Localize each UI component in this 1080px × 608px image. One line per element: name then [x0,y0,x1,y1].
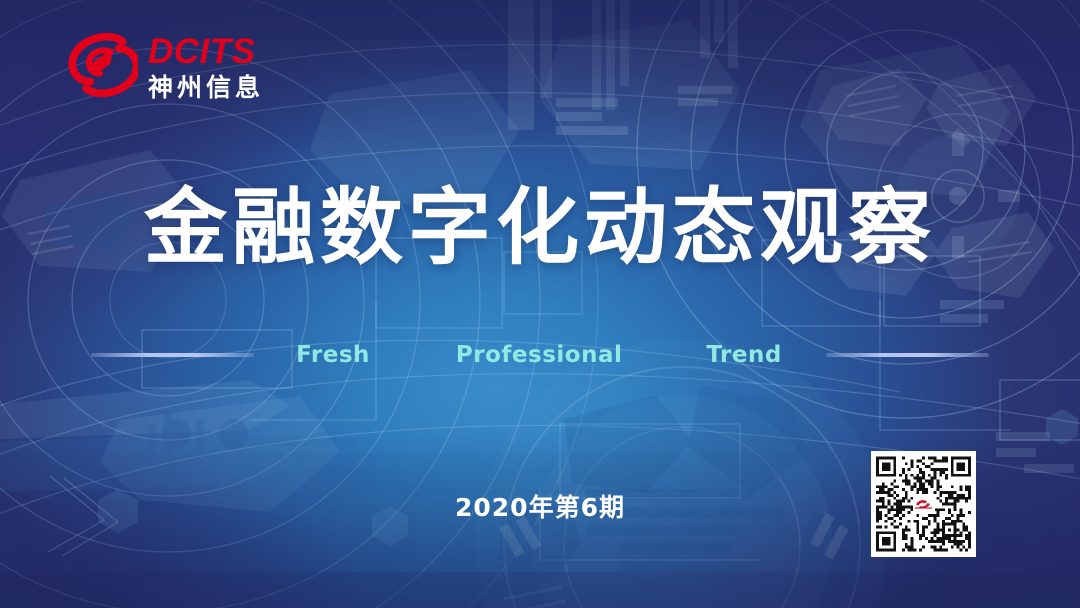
brand-logo: DCITS 神州信息 [66,27,286,107]
tagline-rule-right [826,353,989,357]
dcits-swirl-icon [66,33,138,101]
tagline-row: Fresh Professional Trend [0,340,1080,370]
page-title: 金融数字化动态观察 [0,186,1080,269]
qr-center-logo [913,497,935,512]
poster-slide: DCITS 神州信息 金融数字化动态观察 Fresh Professional … [0,0,1080,608]
logo-english-text: DCITS [148,34,264,69]
tagline-word-professional: Professional [456,342,622,368]
wechat-qr-code[interactable] [871,451,976,557]
tagline-word-trend: Trend [706,342,781,368]
tagline-word-fresh: Fresh [296,342,370,368]
dcits-mini-icon [914,498,934,511]
logo-chinese-text: 神州信息 [148,75,264,100]
tagline-rule-left [91,353,254,357]
